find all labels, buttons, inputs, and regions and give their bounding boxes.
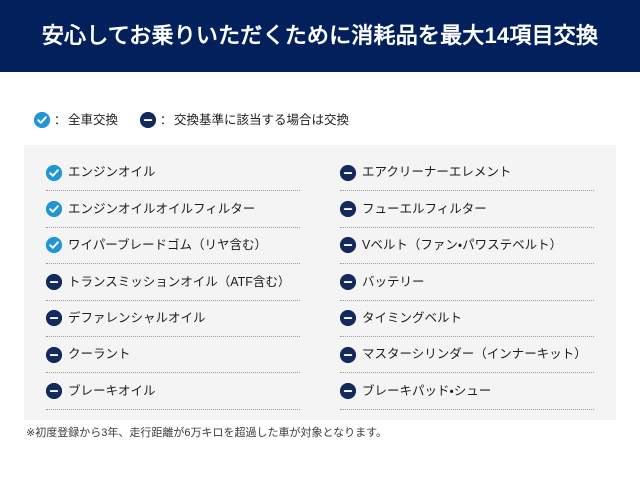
list-item-label: ワイパーブレードゴム（リヤ含む）: [68, 239, 267, 252]
list-item-label: Vベルト（ファン・パワステベルト）: [362, 239, 562, 252]
list-item-label: エンジンオイルオイルフィルター: [68, 203, 255, 216]
list-item: ブレーキオイル: [46, 373, 300, 409]
promo-panel: 安心してお乗りいただくために消耗品を最大14項目交換 ： 全車交換 ： 交換基準…: [0, 0, 640, 480]
items-card: エンジンオイル エンジンオイルオイルフィルター ワイパーブレードゴム（リヤ含む）…: [24, 145, 616, 420]
list-item-label: フューエルフィルター: [362, 203, 487, 216]
minus-circle-icon: [140, 112, 156, 128]
legend-item-conditional: ： 交換基準に該当する場合は交換: [140, 112, 349, 128]
header-banner: 安心してお乗りいただくために消耗品を最大14項目交換: [0, 0, 640, 72]
check-circle-icon: [46, 165, 62, 181]
list-item-label: トランスミッションオイル（ATF含む）: [68, 276, 290, 289]
list-item: タイミングベルト: [340, 301, 594, 337]
list-item: バッテリー: [340, 264, 594, 300]
minus-circle-icon: [46, 347, 62, 363]
minus-circle-icon: [46, 274, 62, 290]
items-column-left: エンジンオイル エンジンオイルオイルフィルター ワイパーブレードゴム（リヤ含む）…: [46, 155, 300, 410]
list-item-label: マスターシリンダー（インナーキット）: [362, 348, 587, 361]
check-circle-icon: [46, 237, 62, 253]
list-item: エンジンオイル: [46, 155, 300, 191]
page-title: 安心してお乗りいただくために消耗品を最大14項目交換: [42, 25, 598, 47]
list-item: ブレーキパッド・シュー: [340, 373, 594, 409]
list-item: トランスミッションオイル（ATF含む）: [46, 264, 300, 300]
items-column-right: エアクリーナーエレメント フューエルフィルター Vベルト（ファン・パワステベルト…: [340, 155, 594, 410]
list-item: フューエルフィルター: [340, 191, 594, 227]
list-item-label: クーラント: [68, 348, 131, 361]
list-item: ワイパーブレードゴム（リヤ含む）: [46, 228, 300, 264]
minus-circle-icon: [340, 165, 356, 181]
list-item-label: タイミングベルト: [362, 312, 462, 325]
minus-circle-icon: [340, 347, 356, 363]
list-item: Vベルト（ファン・パワステベルト）: [340, 228, 594, 264]
minus-circle-icon: [340, 383, 356, 399]
list-item: デファレンシャルオイル: [46, 301, 300, 337]
minus-circle-icon: [46, 310, 62, 326]
minus-circle-icon: [340, 201, 356, 217]
minus-circle-icon: [46, 383, 62, 399]
list-item: マスターシリンダー（インナーキット）: [340, 337, 594, 373]
minus-circle-icon: [340, 310, 356, 326]
list-item-label: ブレーキオイル: [68, 385, 156, 398]
legend-separator: ：: [160, 114, 172, 126]
legend-separator: ：: [54, 114, 66, 126]
check-circle-icon: [34, 112, 50, 128]
check-circle-icon: [46, 201, 62, 217]
legend-item-all-vehicles: ： 全車交換: [34, 112, 118, 128]
legend: ： 全車交換 ： 交換基準に該当する場合は交換: [34, 110, 349, 130]
list-item: エアクリーナーエレメント: [340, 155, 594, 191]
list-item-label: デファレンシャルオイル: [68, 312, 206, 325]
minus-circle-icon: [340, 237, 356, 253]
list-item: クーラント: [46, 337, 300, 373]
legend-label: 全車交換: [68, 114, 118, 127]
minus-circle-icon: [340, 274, 356, 290]
list-item-label: エンジンオイル: [68, 166, 156, 179]
list-item-label: バッテリー: [362, 276, 425, 289]
footnote: ※初度登録から3年、走行距離が6万キロを超過した車が対象となります。: [26, 428, 387, 439]
list-item: エンジンオイルオイルフィルター: [46, 191, 300, 227]
legend-label: 交換基準に該当する場合は交換: [174, 114, 349, 127]
list-item-label: エアクリーナーエレメント: [362, 166, 511, 179]
list-item-label: ブレーキパッド・シュー: [362, 385, 491, 398]
